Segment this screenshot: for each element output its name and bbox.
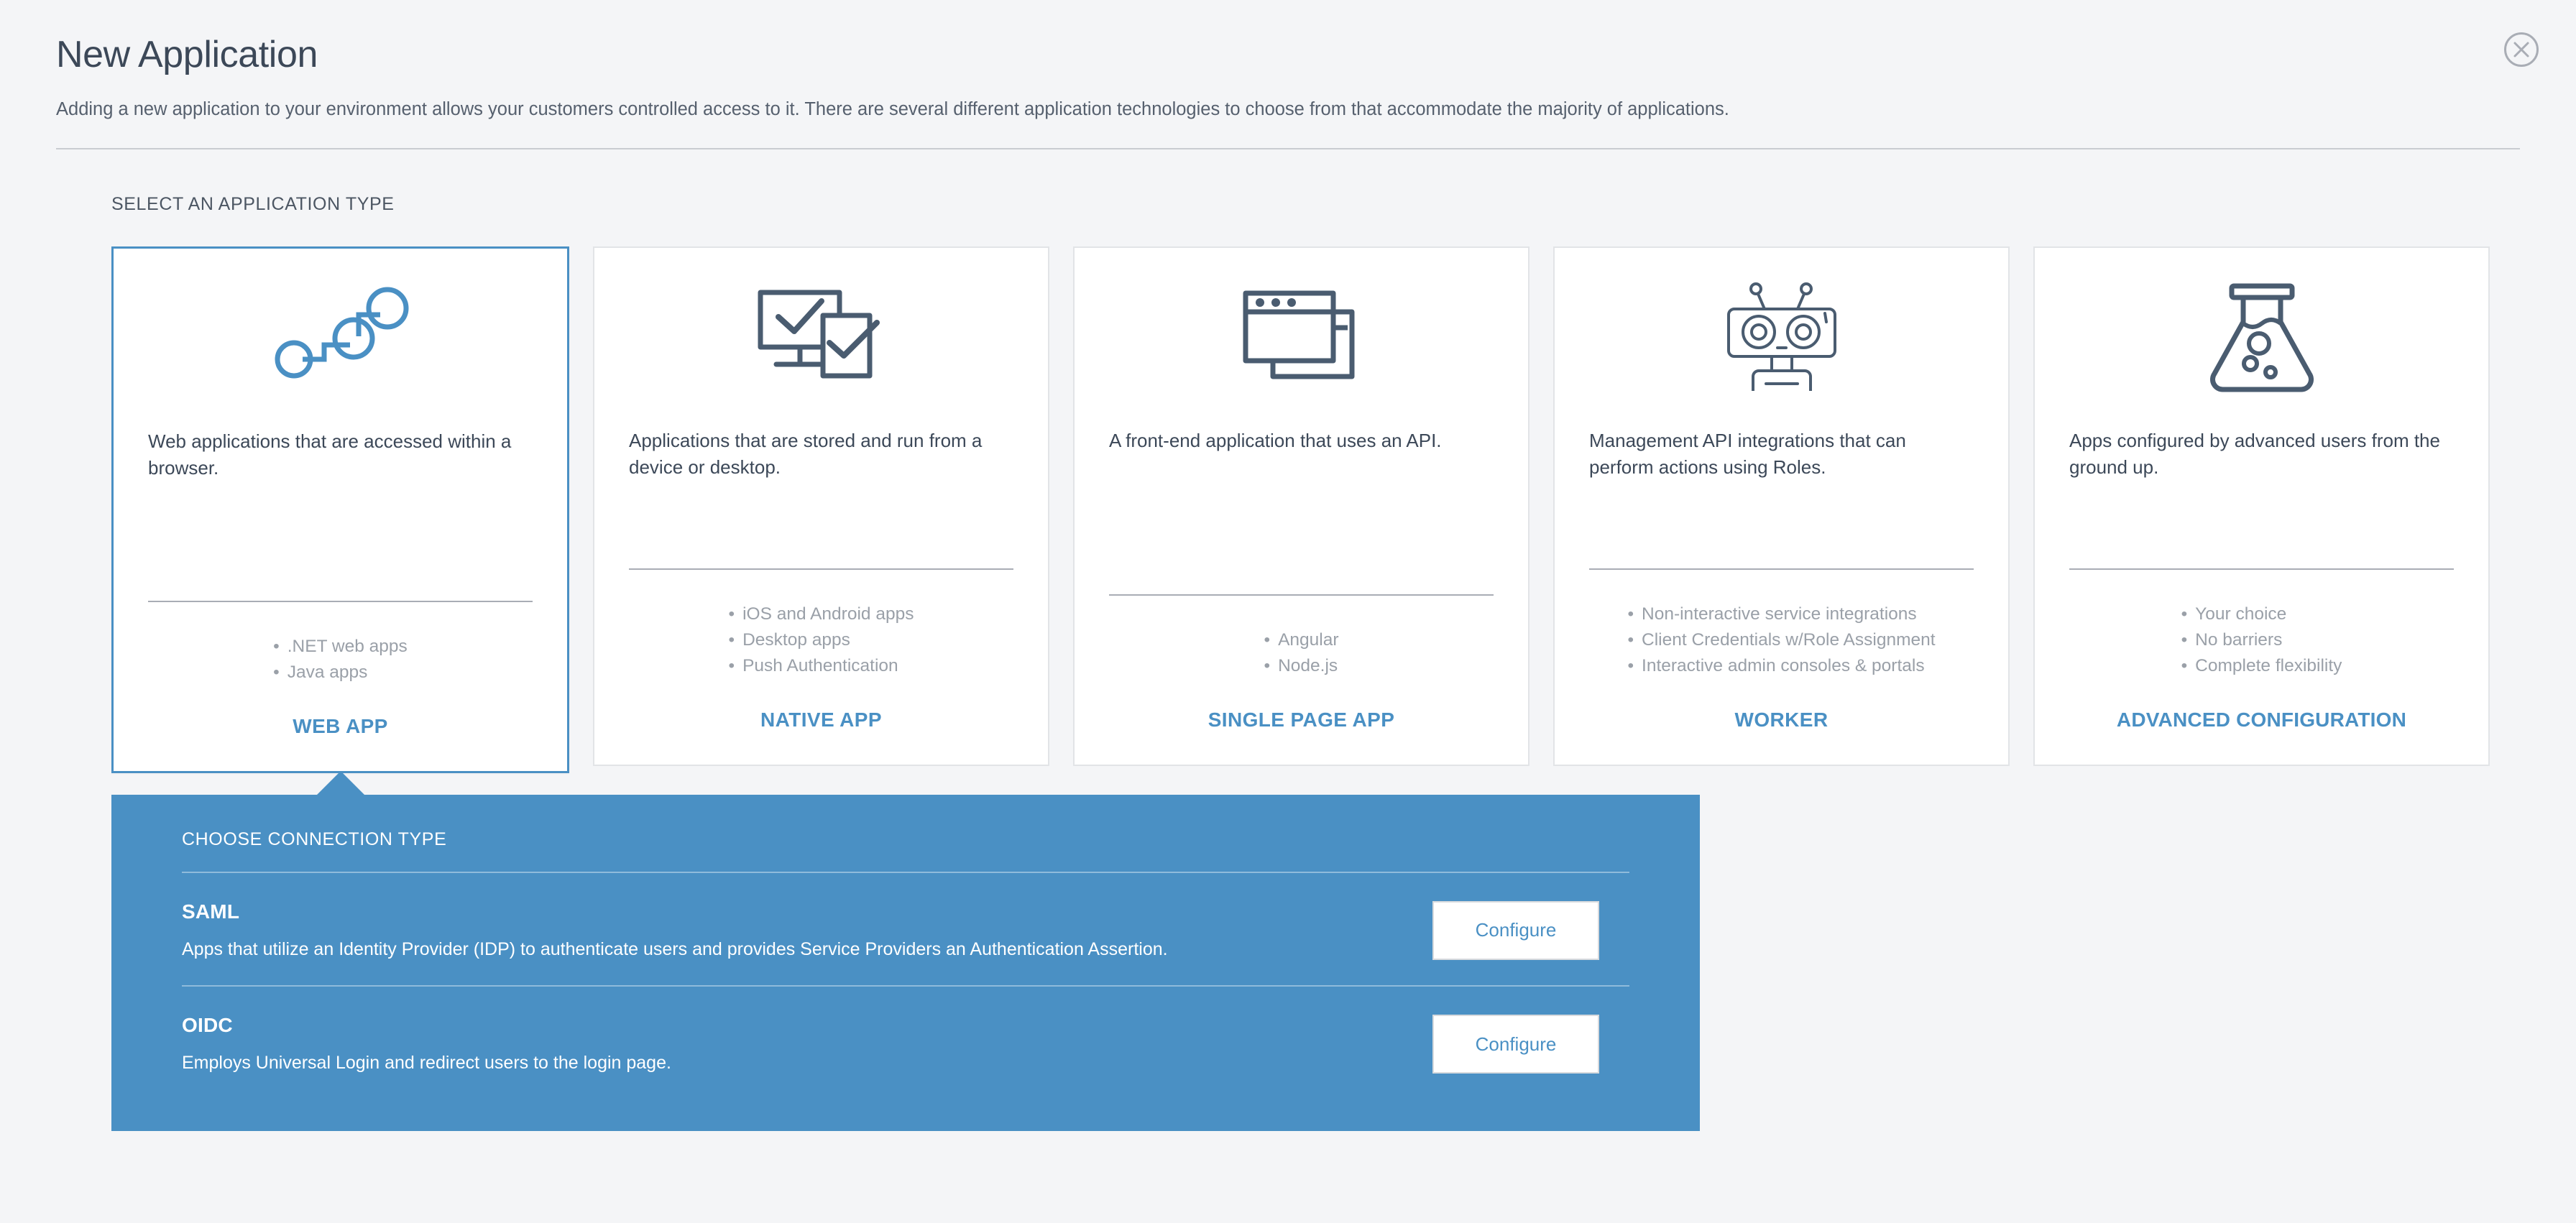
card-type-label[interactable]: ADVANCED CONFIGURATION xyxy=(2117,709,2406,732)
card-description: Apps configured by advanced users from t… xyxy=(2069,428,2454,514)
selected-card-pointer xyxy=(317,771,364,795)
connection-row-oidc: OIDC Employs Universal Login and redirec… xyxy=(147,987,1664,1099)
card-type-label[interactable]: WORKER xyxy=(1735,709,1828,732)
card-bullet-list: Your choice No barriers Complete flexibi… xyxy=(2181,601,2342,680)
configure-oidc-button[interactable]: Configure xyxy=(1432,1015,1599,1074)
card-type-label[interactable]: WEB APP xyxy=(293,715,387,738)
application-type-cards: Web applications that are accessed withi… xyxy=(0,246,2576,773)
card-description: Management API integrations that can per… xyxy=(1589,428,1974,514)
choose-connection-type-panel: CHOOSE CONNECTION TYPE SAML Apps that ut… xyxy=(111,795,1700,1131)
configure-saml-button[interactable]: Configure xyxy=(1432,901,1599,960)
list-item: Complete flexibility xyxy=(2181,653,2342,679)
robot-icon xyxy=(1589,248,1974,428)
app-type-card-single-page-app[interactable]: A front-end application that uses an API… xyxy=(1073,246,1529,766)
new-application-page: New Application Adding a new application… xyxy=(0,0,2576,1223)
app-type-card-worker[interactable]: Management API integrations that can per… xyxy=(1553,246,2010,766)
connection-description: Apps that utilize an Identity Provider (… xyxy=(182,938,1168,961)
app-type-card-web-app[interactable]: Web applications that are accessed withi… xyxy=(111,246,569,773)
list-item: .NET web apps xyxy=(273,634,408,660)
list-item: Desktop apps xyxy=(729,627,914,653)
page-title: New Application xyxy=(56,34,2520,75)
list-item: No barriers xyxy=(2181,627,2342,653)
connection-row-saml: SAML Apps that utilize an Identity Provi… xyxy=(147,873,1664,986)
card-bullet-list: iOS and Android apps Desktop apps Push A… xyxy=(729,601,914,680)
nodes-network-icon xyxy=(148,249,533,428)
section-label: SELECT AN APPLICATION TYPE xyxy=(111,194,2576,215)
list-item: Push Authentication xyxy=(729,653,914,679)
page-subtitle: Adding a new application to your environ… xyxy=(56,97,2520,121)
card-bullet-list: Angular Node.js xyxy=(1264,627,1338,680)
list-item: Non-interactive service integrations xyxy=(1627,601,1935,627)
list-item: Java apps xyxy=(273,660,408,686)
connection-name: SAML xyxy=(182,900,1168,923)
card-type-label[interactable]: SINGLE PAGE APP xyxy=(1208,709,1395,732)
connection-description: Employs Universal Login and redirect use… xyxy=(182,1051,671,1075)
list-item: Your choice xyxy=(2181,601,2342,627)
close-icon[interactable] xyxy=(2504,32,2539,67)
card-bullet-list: Non-interactive service integrations Cli… xyxy=(1627,601,1935,680)
connection-name: OIDC xyxy=(182,1014,671,1037)
list-item: iOS and Android apps xyxy=(729,601,914,627)
stacked-browser-windows-icon xyxy=(1109,248,1494,428)
list-item: Angular xyxy=(1264,627,1338,653)
app-type-card-native-app[interactable]: Applications that are stored and run fro… xyxy=(593,246,1049,766)
list-item: Client Credentials w/Role Assignment xyxy=(1627,627,1935,653)
flask-beaker-icon xyxy=(2069,248,2454,428)
list-item: Node.js xyxy=(1264,653,1338,679)
page-header: New Application Adding a new application… xyxy=(0,0,2576,122)
app-type-card-advanced-configuration[interactable]: Apps configured by advanced users from t… xyxy=(2033,246,2490,766)
list-item: Interactive admin consoles & portals xyxy=(1627,653,1935,679)
card-description: A front-end application that uses an API… xyxy=(1109,428,1494,514)
card-bullet-list: .NET web apps Java apps xyxy=(273,634,408,686)
card-description: Applications that are stored and run fro… xyxy=(629,428,1013,514)
panel-title: CHOOSE CONNECTION TYPE xyxy=(182,829,1664,850)
desktop-and-mobile-check-icon xyxy=(629,248,1013,428)
card-type-label[interactable]: NATIVE APP xyxy=(760,709,882,732)
card-description: Web applications that are accessed withi… xyxy=(148,428,533,514)
header-divider xyxy=(56,148,2520,149)
